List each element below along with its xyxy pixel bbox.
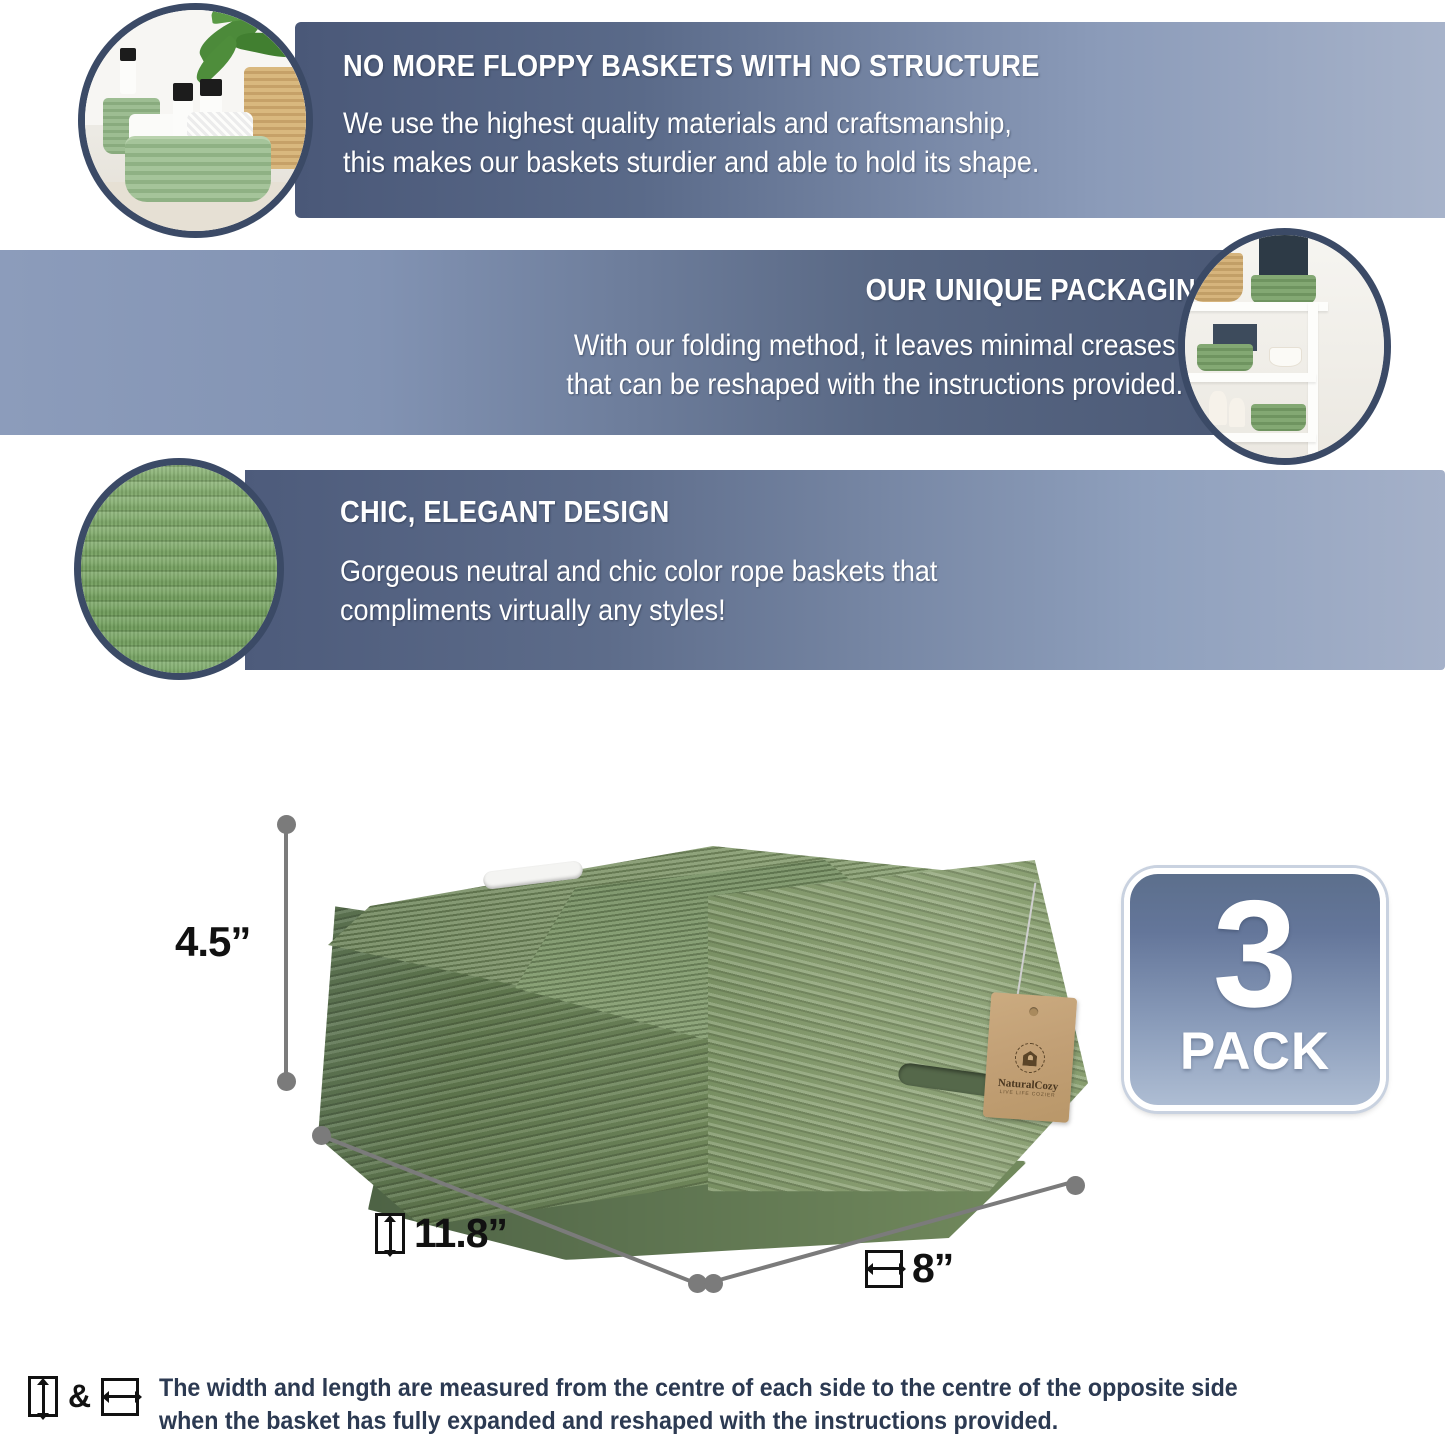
banner-3-title: CHIC, ELEGANT DESIGN: [340, 494, 924, 530]
feature-banner-design: CHIC, ELEGANT DESIGN Gorgeous neutral an…: [245, 470, 1445, 670]
banner-2-body-line-2: that can be reshaped with the instructio…: [566, 365, 1183, 404]
horizontal-arrow-icon: [101, 1378, 139, 1416]
banner-2-title: OUR UNIQUE PACKAGING: [614, 272, 1217, 308]
pack-count-word: PACK: [1180, 1021, 1330, 1082]
banner-2-body: With our folding method, it leaves minim…: [566, 326, 1183, 404]
width-dimension-dot-start: [704, 1274, 723, 1293]
banner-1-title: NO MORE FLOPPY BASKETS WITH NO STRUCTURE: [343, 48, 1040, 84]
banner-2-text-block: OUR UNIQUE PACKAGING With our folding me…: [532, 272, 1217, 404]
height-dimension-dot-top: [277, 815, 296, 834]
width-dimension-value: 8”: [912, 1245, 953, 1292]
length-dimension-label-group: 11.8”: [375, 1210, 507, 1257]
banner-1-text-block: NO MORE FLOPPY BASKETS WITH NO STRUCTURE…: [343, 48, 1135, 182]
height-dimension-line: [284, 826, 288, 1081]
feature-photo-bookshelf-baskets: [1178, 228, 1391, 465]
banner-3-body-line-2: compliments virtually any styles!: [340, 591, 937, 630]
banner-3-body: Gorgeous neutral and chic color rope bas…: [340, 552, 937, 630]
width-dimension-label-group: 8”: [865, 1245, 953, 1292]
height-dimension-label: 4.5”: [175, 918, 250, 966]
feature-photo-bathroom-basket: [78, 3, 313, 238]
footnote-line-1: The width and length are measured from t…: [159, 1372, 1238, 1405]
height-dimension-dot-bottom: [277, 1072, 296, 1091]
footnote-text: The width and length are measured from t…: [159, 1372, 1238, 1438]
product-image-basket: NaturalCozy LIVE LIFE COZIER: [290, 760, 1090, 1260]
banner-3-body-line-1: Gorgeous neutral and chic color rope bas…: [340, 552, 937, 591]
vertical-arrow-icon: [28, 1376, 58, 1417]
length-dimension-dot-start: [312, 1126, 331, 1145]
pack-count-badge: 3 PACK: [1124, 868, 1386, 1111]
horizontal-arrow-icon: [865, 1250, 903, 1288]
feature-banner-structure: NO MORE FLOPPY BASKETS WITH NO STRUCTURE…: [295, 22, 1445, 218]
hangtag-hole-icon: [1028, 1007, 1038, 1017]
width-dimension-dot-end: [1066, 1176, 1085, 1195]
footnote-icon-group: &: [28, 1376, 139, 1417]
banner-1-body-line-2: this makes our baskets sturdier and able…: [343, 143, 1055, 182]
footnote-line-2: when the basket has fully expanded and r…: [159, 1405, 1238, 1438]
length-dimension-value: 11.8”: [414, 1210, 507, 1257]
brand-hangtag: NaturalCozy LIVE LIFE COZIER: [983, 992, 1078, 1123]
banner-1-body-line-1: We use the highest quality materials and…: [343, 104, 1055, 143]
feature-banner-packaging: OUR UNIQUE PACKAGING With our folding me…: [0, 250, 1255, 435]
banner-3-text-block: CHIC, ELEGANT DESIGN Gorgeous neutral an…: [340, 494, 1004, 630]
measurement-footnote: & The width and length are measured from…: [0, 1368, 1445, 1432]
pack-count-number: 3: [1213, 891, 1298, 1019]
footnote-ampersand: &: [68, 1378, 91, 1415]
banner-1-body: We use the highest quality materials and…: [343, 104, 1055, 182]
vertical-arrow-icon: [375, 1213, 405, 1254]
product-showcase: NaturalCozy LIVE LIFE COZIER 4.5” 11.8” …: [0, 700, 1445, 1360]
feature-photo-rope-texture: [74, 458, 284, 680]
banner-2-body-line-1: With our folding method, it leaves minim…: [566, 326, 1183, 365]
house-logo-icon: [1014, 1042, 1046, 1074]
